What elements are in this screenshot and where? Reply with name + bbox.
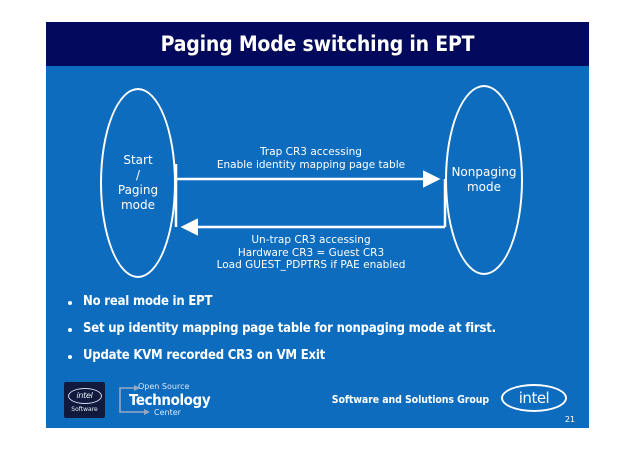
- node-label-line: Paging: [118, 183, 158, 198]
- edge-label-line: Enable identity mapping page table: [176, 159, 446, 172]
- edge-label-line: Trap CR3 accessing: [176, 146, 446, 159]
- edge-label-line: Un-trap CR3 accessing: [176, 234, 446, 247]
- edge-label-to-paging: Un-trap CR3 accessing Hardware CR3 = Gue…: [176, 234, 446, 272]
- bullet-text: Update KVM recorded CR3 on VM Exit: [83, 348, 325, 363]
- edge-label-line: Load GUEST_PDPTRS if PAE enabled: [176, 259, 446, 272]
- node-label-line: /: [118, 168, 158, 183]
- node-label-line: mode: [451, 180, 516, 195]
- bullet-dot-icon: [68, 355, 72, 359]
- bullet-dot-icon: [68, 328, 72, 332]
- bullet-list: No real mode in EPT Set up identity mapp…: [46, 294, 589, 375]
- node-label-line: Nonpaging: [451, 165, 516, 180]
- slide: Paging Mode switching in EPT Start /: [46, 22, 589, 428]
- bullet-dot-icon: [68, 301, 72, 305]
- otc-line-center: Center: [154, 408, 181, 417]
- intel-software-label: Software: [71, 406, 97, 413]
- list-item: Update KVM recorded CR3 on VM Exit: [46, 348, 589, 363]
- intel-logo: intel: [501, 384, 567, 412]
- bullet-text: Set up identity mapping page table for n…: [83, 321, 496, 336]
- intel-software-logo: intel Software: [64, 382, 105, 418]
- edge-label-line: Hardware CR3 = Guest CR3: [176, 247, 446, 260]
- intel-oval-icon: intel: [68, 388, 102, 404]
- edge-label-to-nonpaging: Trap CR3 accessing Enable identity mappi…: [176, 146, 446, 171]
- state-diagram: Start / Paging mode Nonpaging mode Trap …: [46, 66, 589, 299]
- bullet-text: No real mode in EPT: [83, 294, 212, 309]
- node-label-line: mode: [118, 198, 158, 213]
- slide-footer: intel Software Open Source Technology Ce…: [46, 376, 589, 428]
- page-number: 21: [565, 415, 575, 424]
- list-item: Set up identity mapping page table for n…: [46, 321, 589, 336]
- otc-line-open-source: Open Source: [138, 382, 189, 391]
- node-label-line: Start: [118, 153, 158, 168]
- software-solutions-group-label: Software and Solutions Group: [332, 394, 489, 406]
- slide-title-bar: Paging Mode switching in EPT: [46, 22, 589, 66]
- otc-line-technology: Technology: [129, 391, 210, 409]
- open-source-technology-center-logo: Open Source Technology Center: [114, 382, 210, 419]
- list-item: No real mode in EPT: [46, 294, 589, 309]
- page-title: Paging Mode switching in EPT: [161, 32, 475, 56]
- state-node-nonpaging: Nonpaging mode: [445, 85, 523, 275]
- intel-oval-icon: intel: [501, 384, 567, 412]
- state-node-start-paging: Start / Paging mode: [100, 88, 176, 278]
